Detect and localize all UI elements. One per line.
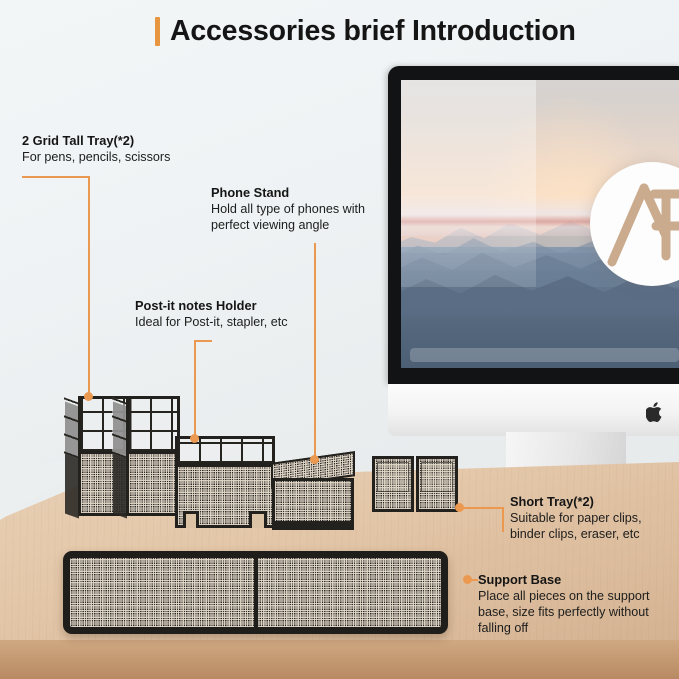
leader-short-tray-v [502,507,504,532]
tall-tray-2-mesh-body [126,451,180,516]
tall-tray-1-side-grid [64,397,79,458]
callout-phone-stand: Phone Stand Hold all type of phones with… [211,185,365,233]
callout-postit-holder: Post-it notes Holder Ideal for Post-it, … [135,298,288,330]
tall-tray-2-grid-top [126,396,180,454]
support-base [63,551,448,634]
callout-short-tray-desc-1: Suitable for paper clips, [510,510,642,526]
callout-short-tray-desc-2: binder clips, eraser, etc [510,526,642,542]
callout-phone-stand-desc-1: Hold all type of phones with [211,201,365,217]
short-tray-1 [372,456,414,512]
postit-holder-foot-right [249,511,267,528]
leader-dot-short-tray [455,503,464,512]
callout-support-base-desc-1: Place all pieces on the support [478,588,650,604]
callout-phone-stand-desc-2: perfect viewing angle [211,217,365,233]
callout-support-base-desc-2: base, size fits perfectly without [478,604,650,620]
leader-postit-h [194,340,212,342]
phone-stand [272,457,354,530]
callout-short-tray-title: Short Tray(*2) [510,494,642,509]
callout-support-base-title: Support Base [478,572,650,587]
leader-tall-tray-h [22,176,90,178]
callout-phone-stand-title: Phone Stand [211,185,365,200]
leader-dot-phone-stand [310,455,319,464]
tall-tray-2 [126,396,180,516]
callout-postit-holder-title: Post-it notes Holder [135,298,288,313]
leader-postit-v [194,340,196,440]
leader-phone-stand-v [314,243,316,461]
postit-notes-holder [175,436,275,528]
leader-tall-tray-v [88,176,90,398]
support-base-divider [254,558,258,627]
postit-holder-foot-left [183,511,199,528]
leader-short-tray-h [462,507,504,509]
short-tray-2-inner [421,462,453,492]
callout-support-base-desc-3: falling off [478,620,650,636]
leader-dot-tall-tray [84,392,93,401]
short-tray-2 [416,456,458,512]
callout-postit-holder-desc: Ideal for Post-it, stapler, etc [135,314,288,330]
leader-dot-postit [190,434,199,443]
leader-dot-support-base [463,575,472,584]
product-infographic: Accessories brief Introduction [0,0,679,679]
short-tray-1-inner [377,462,409,492]
phone-stand-lip [272,521,354,530]
callout-tall-tray-desc: For pens, pencils, scissors [22,149,170,165]
callout-support-base: Support Base Place all pieces on the sup… [478,572,650,636]
tall-tray-2-side-grid [112,397,127,458]
callout-short-tray: Short Tray(*2) Suitable for paper clips,… [510,494,642,542]
callout-tall-tray: 2 Grid Tall Tray(*2) For pens, pencils, … [22,133,170,165]
callout-tall-tray-title: 2 Grid Tall Tray(*2) [22,133,170,148]
